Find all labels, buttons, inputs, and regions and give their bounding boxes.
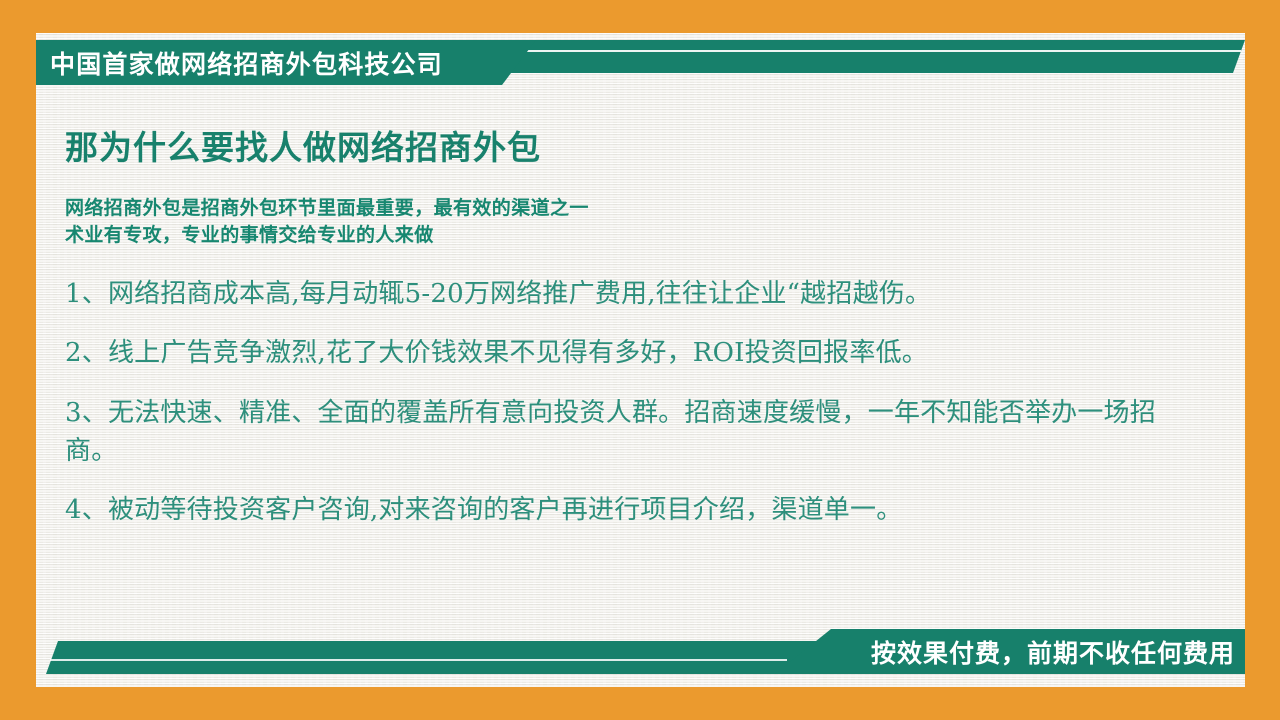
footer-banner: 按效果付费，前期不收任何费用 xyxy=(36,621,1245,687)
header-title: 中国首家做网络招商外包科技公司 xyxy=(50,40,520,85)
reason-list: 1、网络招商成本高,每月动辄5-20万网络推广费用,往往让企业“越招越伤。 2、… xyxy=(65,276,1225,530)
content-area: 那为什么要找人做网络招商外包 网络招商外包是招商外包环节里面最重要，最有效的渠道… xyxy=(65,128,1225,530)
slide-paper-panel: 中国首家做网络招商外包科技公司 那为什么要找人做网络招商外包 网络招商外包是招商… xyxy=(36,33,1245,687)
list-item: 3、无法快速、精准、全面的覆盖所有意向投资人群。招商速度缓慢，一年不知能否举办一… xyxy=(65,395,1200,470)
subtitle-line-1: 网络招商外包是招商外包环节里面最重要，最有效的渠道之一 xyxy=(65,195,1225,223)
list-item: 1、网络招商成本高,每月动辄5-20万网络推广费用,往往让企业“越招越伤。 xyxy=(65,276,1225,314)
page-title: 那为什么要找人做网络招商外包 xyxy=(65,128,1225,168)
subtitle-group: 网络招商外包是招商外包环节里面最重要，最有效的渠道之一 术业有专攻，专业的事情交… xyxy=(65,195,1225,250)
header-hairline xyxy=(466,50,1241,52)
header-title-block xyxy=(36,40,536,85)
subtitle-line-2: 术业有专攻，专业的事情交给专业的人来做 xyxy=(65,222,1225,250)
list-item: 4、被动等待投资客户咨询,对来咨询的客户再进行项目介绍，渠道单一。 xyxy=(65,492,1225,530)
header-banner: 中国首家做网络招商外包科技公司 xyxy=(36,33,1245,85)
footer-hairline xyxy=(50,659,787,661)
footer-thin-bar xyxy=(46,641,1245,674)
footer-title-block xyxy=(775,629,1245,674)
footer-title: 按效果付费，前期不收任何费用 xyxy=(825,629,1235,674)
slide-root: 中国首家做网络招商外包科技公司 那为什么要找人做网络招商外包 网络招商外包是招商… xyxy=(0,0,1280,720)
list-item: 2、线上广告竞争激烈,花了大价钱效果不见得有多好，ROI投资回报率低。 xyxy=(65,335,1225,373)
header-thin-bar xyxy=(36,40,1245,73)
